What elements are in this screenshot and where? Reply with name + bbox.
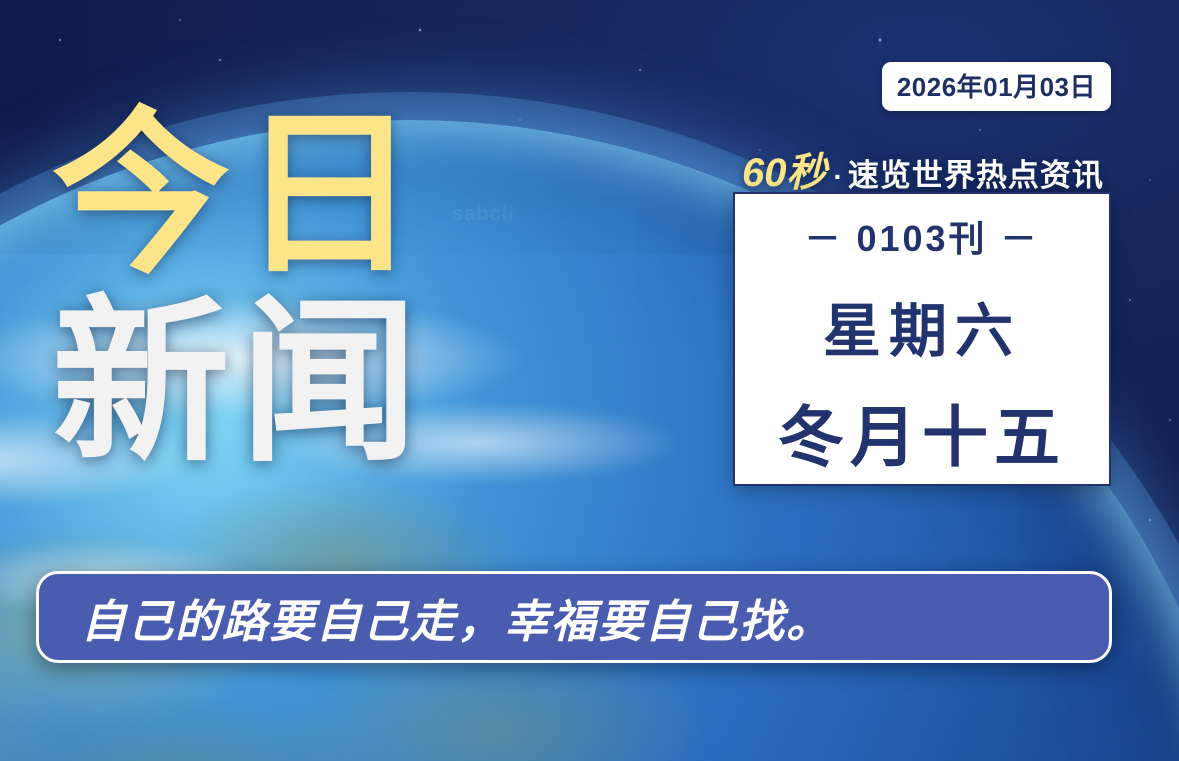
tagline-text: 速览世界热点资讯 [848,150,1104,195]
news-poster: sabcli 2026年01月03日 60秒 · 速览世界热点资讯 今日 新闻 … [0,0,1179,761]
title-line-today: 今日 [52,104,428,286]
quote-banner: 自己的路要自己走，幸福要自己找。 [36,571,1112,663]
lunar-date-label: 冬月十五 [778,384,1066,480]
tagline: 60秒 · 速览世界热点资讯 [742,140,1104,198]
date-info-card: － 0103刊 － 星期六 冬月十五 [733,192,1111,486]
title-line-news: 新闻 [52,292,428,474]
weekday-label: 星期六 [823,284,1021,368]
page-title: 今日 新闻 [52,104,428,473]
tagline-highlight: 60秒 [742,140,827,198]
watermark-text: sabcli [452,203,515,226]
issue-number: － 0103刊 － [804,210,1039,262]
quote-text: 自己的路要自己走，幸福要自己找。 [81,585,833,650]
tagline-separator: · [834,161,843,193]
date-badge: 2026年01月03日 [882,62,1111,111]
